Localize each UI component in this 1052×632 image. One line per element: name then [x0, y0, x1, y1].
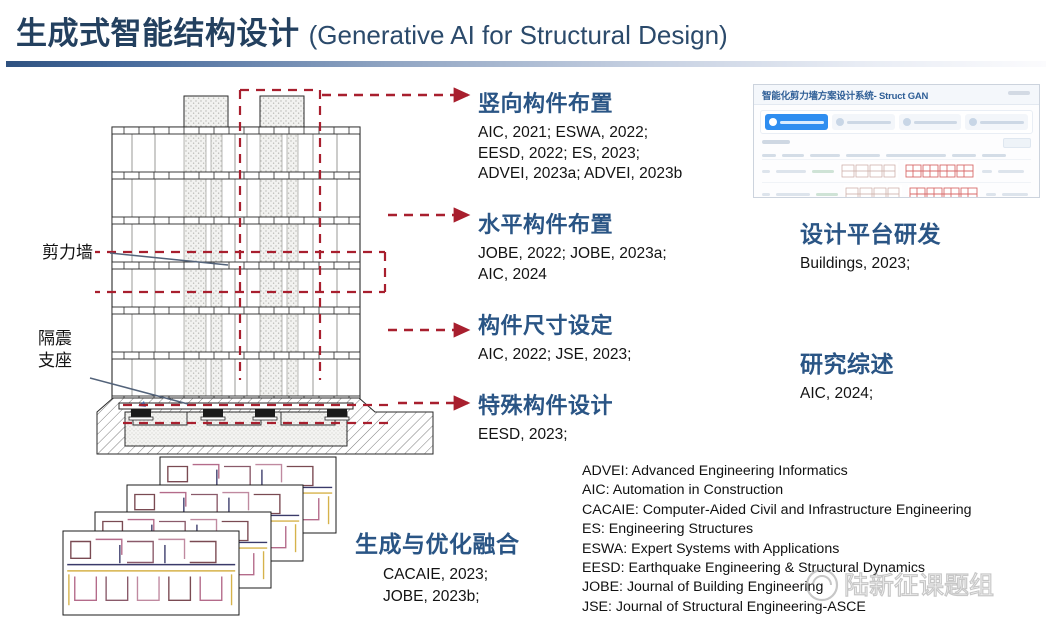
foundation — [97, 398, 433, 454]
app-user-placeholder — [1008, 91, 1030, 95]
topic-generation-optimization: 生成与优化融合 CACAIE, 2023; JOBE, 2023b; — [355, 525, 520, 608]
topic-research-review: 研究综述 AIC, 2024; — [800, 345, 894, 405]
topic-vertical-members: 竖向构件布置 AIC, 2021; ESWA, 2022; EESD, 2022… — [478, 86, 682, 185]
app-tab-beam-column-design[interactable] — [832, 114, 895, 130]
title-area: 生成式智能结构设计 (Generative AI for Structural … — [0, 0, 1052, 70]
col-index — [762, 154, 776, 157]
app-list-title — [762, 140, 790, 144]
topic-review-heading: 研究综述 — [800, 345, 894, 379]
abbrev-item: CACAIE: Computer-Aided Civil and Infrast… — [582, 501, 1052, 520]
topic-vertical-refs: AIC, 2021; ESWA, 2022; EESD, 2022; ES, 2… — [478, 123, 682, 185]
col-actions — [982, 154, 1006, 157]
beam-column-icon — [836, 118, 844, 126]
plan-thumb-1 — [63, 531, 239, 615]
app-tab-label — [847, 121, 891, 124]
cell-plan-output — [908, 185, 980, 198]
col-type — [810, 154, 840, 157]
cell-plan-output — [904, 162, 976, 180]
building-elevation-figure — [95, 80, 475, 455]
app-tab-structural-check[interactable] — [899, 114, 962, 130]
cell-plan-input — [840, 162, 898, 180]
abbrev-item: JOBE: Journal of Building Engineering — [582, 578, 1052, 597]
abbreviation-legend: ADVEI: Advanced Engineering Informatics … — [582, 462, 1052, 617]
title-divider — [6, 61, 1046, 67]
chart-icon — [969, 118, 977, 126]
abbrev-item: EESD: Earthquake Engineering & Structura… — [582, 559, 1052, 578]
cell-plan-input — [844, 185, 902, 198]
table-row[interactable] — [762, 159, 1031, 182]
col-input — [846, 154, 880, 157]
design-platform-screenshot: 智能化剪力墙方案设计系统- Struct GAN — [753, 84, 1040, 198]
cell-score — [982, 170, 992, 173]
abbrev-item: JSE: Journal of Structural Engineering-A… — [582, 598, 1052, 617]
page-title: 生成式智能结构设计 (Generative AI for Structural … — [16, 8, 728, 53]
cell-status — [816, 193, 838, 196]
topic-vertical-heading: 竖向构件布置 — [478, 86, 682, 118]
app-tabbar — [760, 110, 1033, 134]
topic-platform-refs: Buildings, 2023; — [800, 254, 941, 275]
topic-horizontal-refs: JOBE, 2022; JOBE, 2023a; AIC, 2024 — [478, 244, 667, 285]
shearwall-icon — [769, 118, 777, 126]
topic-horizontal-members: 水平构件布置 JOBE, 2022; JOBE, 2023a; AIC, 202… — [478, 207, 667, 285]
app-titlebar: 智能化剪力墙方案设计系统- Struct GAN — [754, 85, 1039, 105]
cell-index — [762, 193, 770, 196]
label-isolator-line1: 隔震 — [38, 328, 72, 350]
floor-plan-stack — [55, 455, 355, 630]
topic-design-platform: 设计平台研发 Buildings, 2023; — [800, 215, 941, 275]
cell-index — [762, 170, 770, 173]
app-tab-performance-eval[interactable] — [965, 114, 1028, 130]
topic-size-heading: 构件尺寸设定 — [478, 308, 631, 340]
abbrev-item: AIC: Automation in Construction — [582, 481, 1052, 500]
app-tab-label — [980, 121, 1024, 124]
app-results-table — [762, 151, 1031, 197]
cell-name — [776, 170, 806, 173]
topic-platform-heading: 设计平台研发 — [800, 215, 941, 249]
topic-special-heading: 特殊构件设计 — [478, 388, 613, 420]
page-title-zh: 生成式智能结构设计 — [16, 16, 300, 51]
topic-horizontal-heading: 水平构件布置 — [478, 207, 667, 239]
col-name — [782, 154, 804, 157]
topic-fusion-heading: 生成与优化融合 — [355, 525, 520, 559]
app-tab-label — [780, 121, 824, 124]
topic-special-refs: EESD, 2023; — [478, 425, 613, 446]
cell-name — [776, 193, 810, 196]
label-shear-wall: 剪力墙 — [42, 242, 93, 264]
label-isolator: 隔震 支座 — [38, 328, 72, 372]
col-output — [886, 154, 946, 157]
cell-actions[interactable] — [998, 170, 1024, 173]
col-score — [952, 154, 976, 157]
app-table-header — [762, 151, 1031, 159]
app-list-action-button[interactable] — [1003, 138, 1031, 148]
label-isolator-line2: 支座 — [38, 350, 72, 372]
topic-size-refs: AIC, 2022; JSE, 2023; — [478, 345, 631, 366]
slide-root: 生成式智能结构设计 (Generative AI for Structural … — [0, 0, 1052, 632]
cell-actions[interactable] — [1002, 193, 1028, 196]
app-tab-shearwall-design[interactable] — [765, 114, 828, 130]
table-row[interactable] — [762, 182, 1031, 198]
topic-fusion-refs: CACAIE, 2023; JOBE, 2023b; — [383, 564, 520, 608]
app-list-toolbar — [762, 138, 1031, 147]
cell-score — [986, 193, 996, 196]
check-icon — [903, 118, 911, 126]
app-title: 智能化剪力墙方案设计系统- Struct GAN — [762, 88, 928, 102]
topic-special-members: 特殊构件设计 EESD, 2023; — [478, 388, 613, 446]
page-title-en: (Generative AI for Structural Design) — [309, 20, 728, 50]
topic-review-refs: AIC, 2024; — [800, 384, 894, 405]
abbrev-item: ADVEI: Advanced Engineering Informatics — [582, 462, 1052, 481]
app-tab-label — [914, 121, 958, 124]
abbrev-item: ES: Engineering Structures — [582, 520, 1052, 539]
topic-member-sizing: 构件尺寸设定 AIC, 2022; JSE, 2023; — [478, 308, 631, 366]
abbrev-item: ESWA: Expert Systems with Applications — [582, 540, 1052, 559]
cell-status — [812, 170, 834, 173]
